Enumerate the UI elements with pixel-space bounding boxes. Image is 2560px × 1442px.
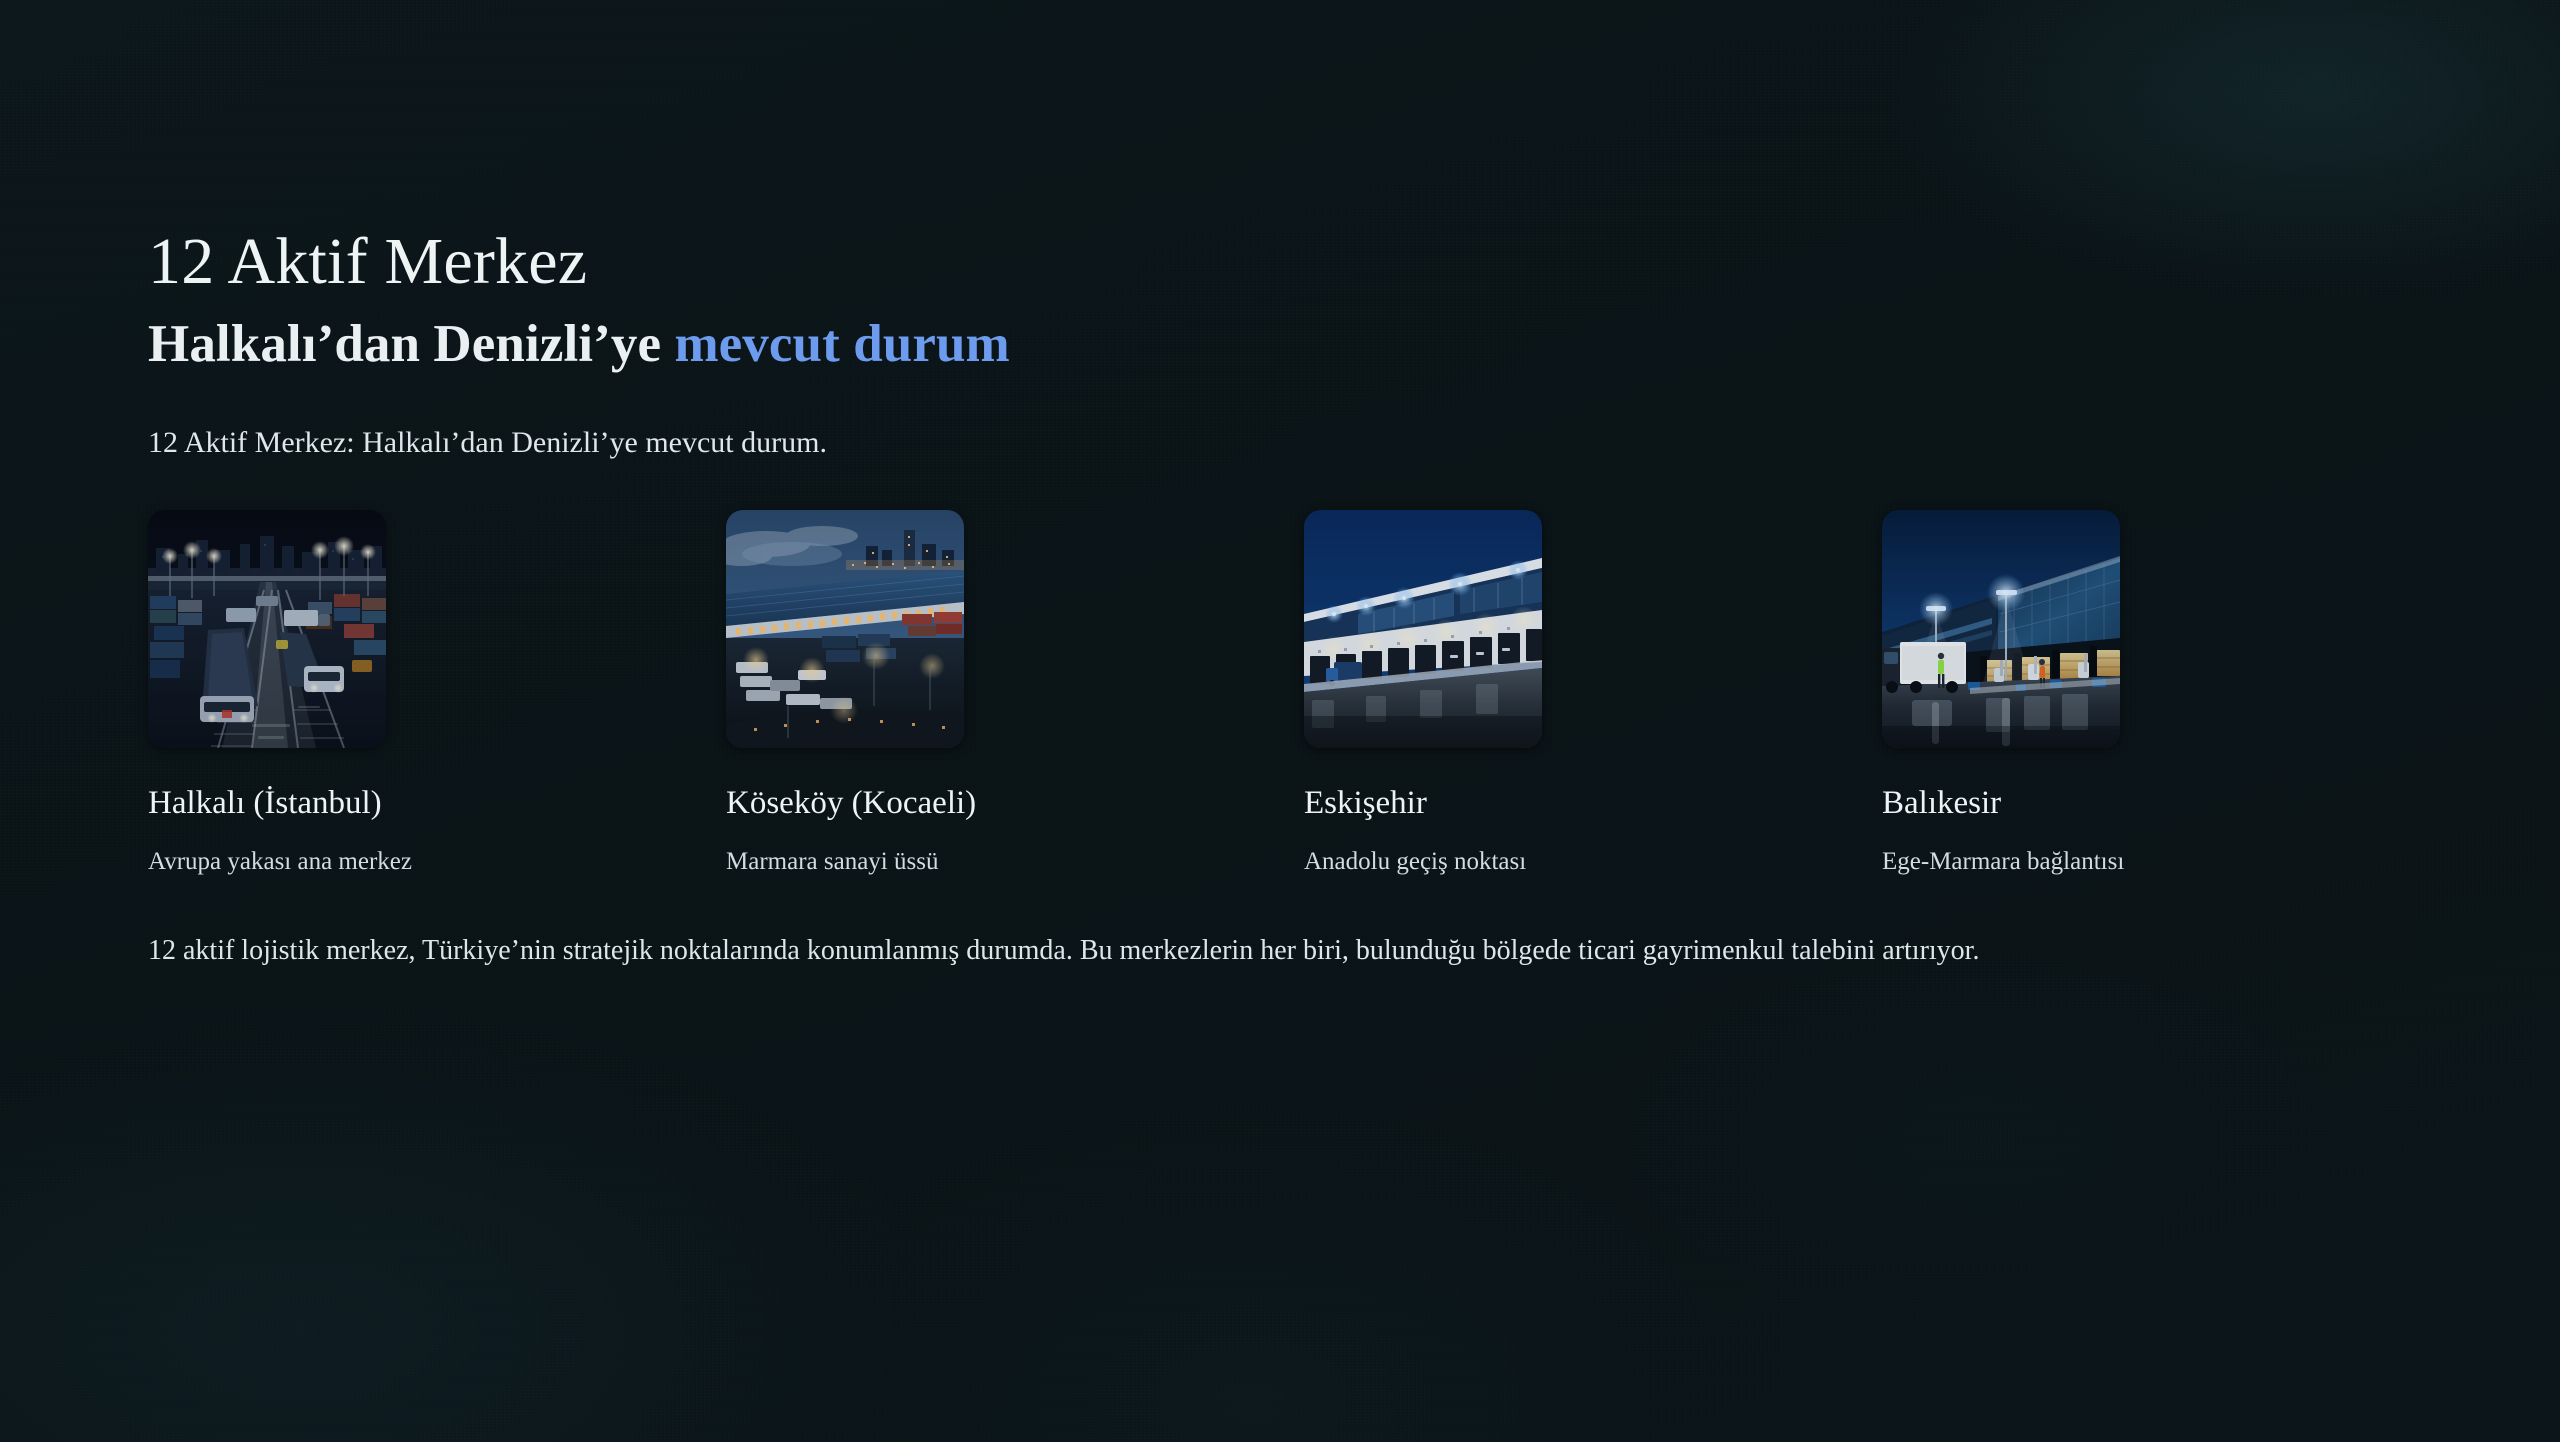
page-title: 12 Aktif Merkez <box>148 228 2428 297</box>
hero-lede: 12 Aktif Merkez: Halkalı’dan Denizli’ye … <box>148 422 2428 464</box>
card-title: Köseköy (Kocaeli) <box>726 784 1226 824</box>
centre-card-grid: Halkalı (İstanbul) Avrupa yakası ana mer… <box>148 510 2428 878</box>
slide-content: 12 Aktif Merkez Halkalı’dan Denizli’ye m… <box>148 0 2428 973</box>
list-item[interactable]: Halkalı (İstanbul) Avrupa yakası ana mer… <box>148 510 648 878</box>
card-subtitle: Marmara sanayi üssü <box>726 846 1226 879</box>
card-title: Eskişehir <box>1304 784 1804 824</box>
rail-freight-yard-night-photo <box>148 510 386 748</box>
footer-note: 12 aktif lojistik merkez, Türkiye’nin st… <box>148 930 2398 973</box>
card-title: Balıkesir <box>1882 784 2382 824</box>
distribution-centre-trucks-dusk-photo <box>1882 510 2120 748</box>
subtitle-accent-text: mevcut durum <box>674 315 1009 373</box>
list-item[interactable]: Köseköy (Kocaeli) Marmara sanayi üssü <box>726 510 1226 878</box>
card-subtitle: Ege-Marmara bağlantısı <box>1882 846 2382 879</box>
card-subtitle: Avrupa yakası ana merkez <box>148 846 648 879</box>
warehouse-loading-docks-night-photo <box>1304 510 1542 748</box>
list-item[interactable]: Balıkesir Ege-Marmara bağlantısı <box>1882 510 2382 878</box>
aerial-logistics-park-dusk-photo <box>726 510 964 748</box>
slide-root: 12 Aktif Merkez Halkalı’dan Denizli’ye m… <box>0 0 2560 1442</box>
card-subtitle: Anadolu geçiş noktası <box>1304 846 1804 879</box>
hero-heading-block: 12 Aktif Merkez Halkalı’dan Denizli’ye m… <box>148 0 2428 464</box>
list-item[interactable]: Eskişehir Anadolu geçiş noktası <box>1304 510 1804 878</box>
card-title: Halkalı (İstanbul) <box>148 784 648 824</box>
subtitle-plain-text: Halkalı’dan Denizli’ye <box>148 315 674 373</box>
page-subtitle: Halkalı’dan Denizli’ye mevcut durum <box>148 315 2428 374</box>
